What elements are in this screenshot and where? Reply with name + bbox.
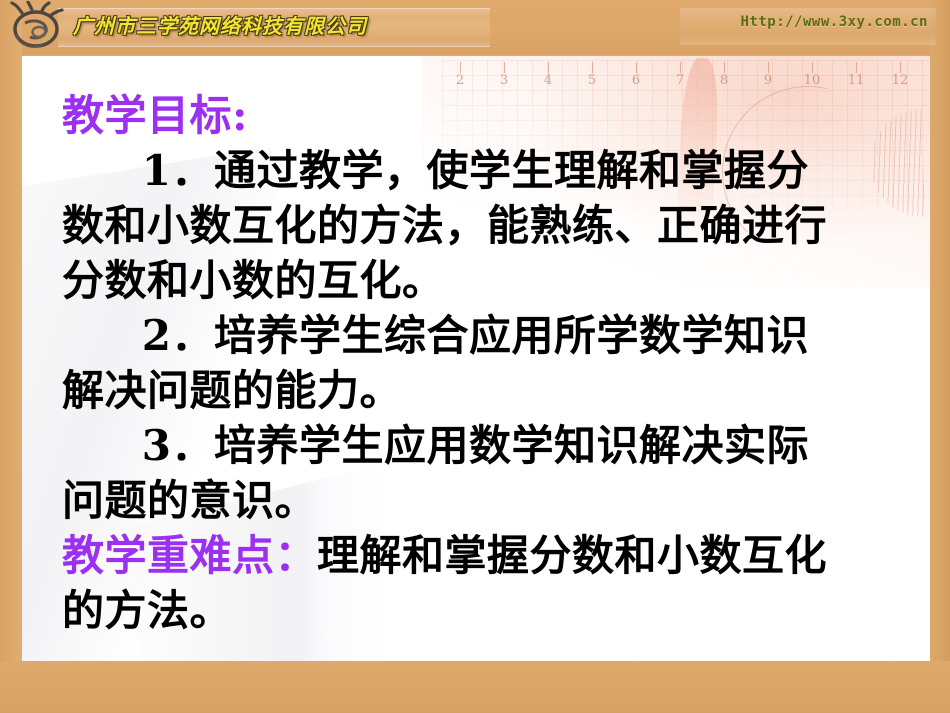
objective-item-3: 3．培养学生应用数学知识解决实际问题的意识。 (62, 418, 832, 528)
ruler-tick (812, 62, 813, 73)
watermark-protractor (866, 104, 924, 222)
ruler-number-label: 12 (892, 73, 909, 88)
objectives-heading: 教学目标: (62, 88, 832, 143)
ruler-number-label: 10 (804, 73, 821, 88)
ruler-number-label: 6 (632, 73, 640, 88)
ruler-number-label: 7 (676, 73, 684, 88)
ruler-tick (680, 62, 681, 73)
ruler-tick (636, 62, 637, 73)
slide-content-area: 23456789101112 教学目标: 1．通过教学，使学生理解和掌握分数和小… (22, 56, 930, 661)
objective-2-text: 2．培养学生综合应用所学数学知识解决问题的能力。 (62, 311, 809, 415)
ruler-tick (900, 62, 901, 73)
ruler-tick (504, 62, 505, 73)
ruler-number-label: 3 (500, 73, 508, 88)
objective-3-text: 3．培养学生应用数学知识解决实际问题的意识。 (62, 421, 809, 525)
ruler-tick (768, 62, 769, 73)
ruler-tick (856, 62, 857, 73)
slide-border-right (930, 0, 950, 713)
slide-body-text: 教学目标: 1．通过教学，使学生理解和掌握分数和小数互化的方法，能熟练、正确进行… (62, 88, 832, 638)
ruler-number-label: 11 (848, 73, 865, 88)
key-points-line: 教学重难点：理解和掌握分数和小数互化的方法。 (62, 528, 832, 638)
slide-border-bottom (0, 661, 950, 713)
ruler-number-label: 2 (456, 73, 464, 88)
ruler-tick (724, 62, 725, 73)
ruler-number-label: 4 (544, 73, 552, 88)
key-points-label: 教学重难点： (62, 531, 317, 580)
objective-item-2: 2．培养学生综合应用所学数学知识解决问题的能力。 (62, 308, 832, 418)
presentation-slide: 广州市三学苑网络科技有限公司 Http://www.3xy.com.cn 234… (0, 0, 950, 713)
ruler-tick (460, 62, 461, 73)
ruler-number-label: 9 (764, 73, 772, 88)
ruler-tick (548, 62, 549, 73)
company-logo-icon (8, 1, 68, 53)
company-name-title: 广州市三学苑网络科技有限公司 (73, 10, 367, 39)
slide-border-left (0, 0, 22, 713)
objective-item-1: 1．通过教学，使学生理解和掌握分数和小数互化的方法，能熟练、正确进行分数和小数的… (62, 143, 832, 308)
ruler-tick (592, 62, 593, 73)
company-website-url[interactable]: Http://www.3xy.com.cn (740, 14, 928, 30)
ruler-number-label: 5 (588, 73, 596, 88)
objective-1-text: 1．通过教学，使学生理解和掌握分数和小数互化的方法，能熟练、正确进行分数和小数的… (62, 146, 827, 305)
ruler-number-label: 8 (720, 73, 728, 88)
